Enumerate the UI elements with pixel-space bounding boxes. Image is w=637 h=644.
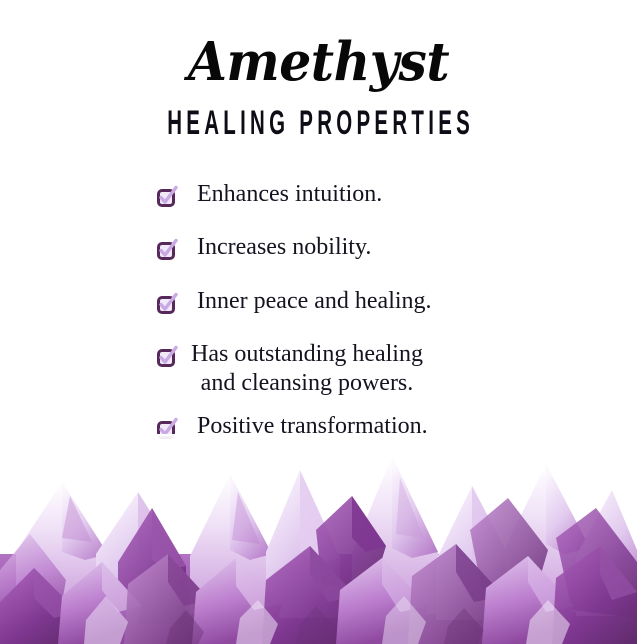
checkbox-checked-icon [155,240,177,262]
list-item-label: Increases nobility. [183,233,371,262]
check-mark-icon [155,345,179,369]
page-subtitle: HEALING PROPERTIES [108,105,528,140]
healing-properties-list: Enhances intuition. Increases nobility. … [155,180,575,466]
check-mark-icon [155,185,179,209]
checkbox-checked-icon [155,294,177,316]
list-item-label: Enhances intuition. [183,180,382,209]
list-item: Increases nobility. [155,233,575,262]
check-mark-icon [155,238,179,262]
check-mark-icon [155,292,179,316]
crystal-illustration [0,434,637,644]
amethyst-crystal-cluster-image [0,434,637,644]
list-item: Has outstanding healing and cleansing po… [155,340,575,399]
checkbox-checked-icon [155,347,177,369]
checkbox-checked-icon [155,187,177,209]
poster-header: Amethyst HEALING PROPERTIES [0,0,637,136]
page-title: Amethyst [16,36,621,89]
list-item: Enhances intuition. [155,180,575,209]
list-item-label: Has outstanding healing and cleansing po… [183,340,423,399]
list-item-label: Inner peace and healing. [183,287,432,316]
amethyst-healing-properties-poster: Amethyst HEALING PROPERTIES Enhances int… [0,0,637,644]
list-item: Inner peace and healing. [155,287,575,316]
